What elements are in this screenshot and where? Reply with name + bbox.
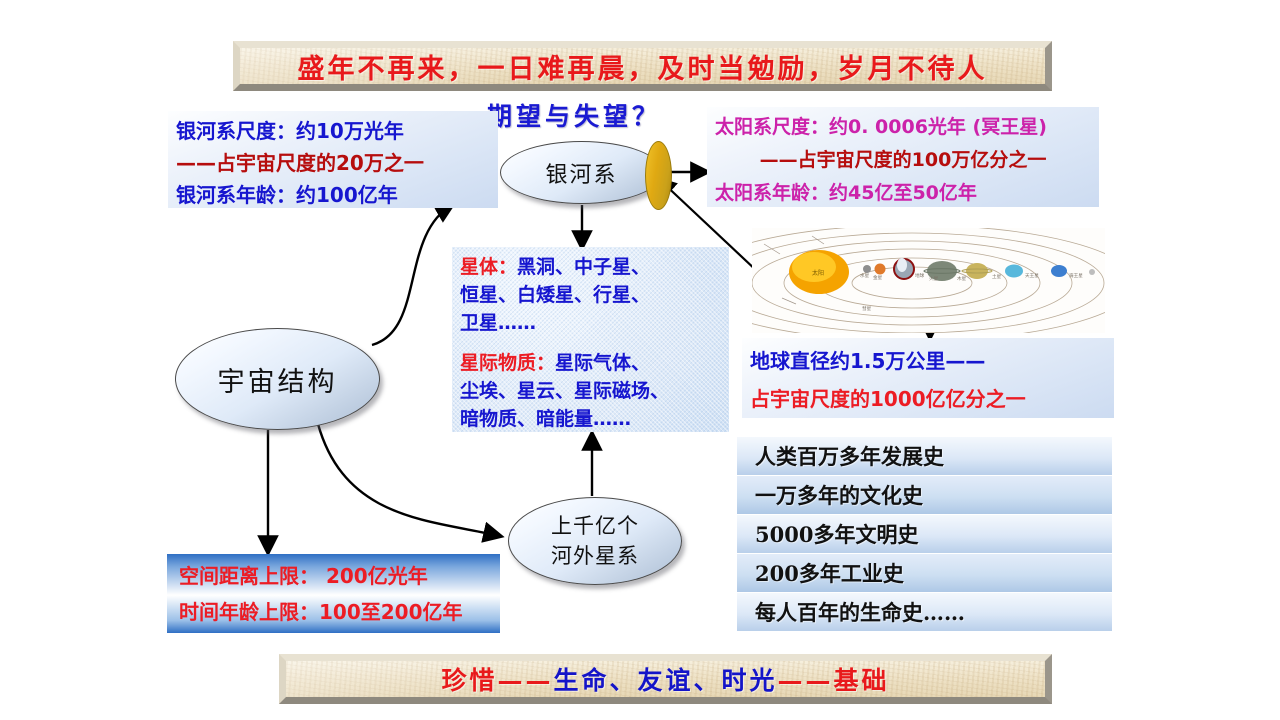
bodies-label-row: 星体：黑洞、中子星、 [460,253,721,281]
slide-canvas: 盛年不再来，一日难再晨，及时当勉励，岁月不待人 期望与失望？ 银河系尺度：约10… [0,0,1280,720]
galaxy-info-box: 银河系尺度：约10万光年 ——占宇宙尺度的20万之一 银河系年龄：约100亿年 [168,111,498,208]
limits-box: 空间距离上限： 200亿光年 时间年龄上限：100至200亿年 [167,554,500,633]
solar-age-line: 太阳系年龄：约45亿至50亿年 [715,177,1091,210]
link-universe-galaxy [372,205,452,345]
matter-line3: 暗物质、暗能量…… [460,405,721,433]
history-item-2: 5000多年文明史 [737,515,1112,553]
earth-diameter-line: 地球直径约1.5万公里—— [750,342,1106,380]
svg-text:土星: 土星 [992,273,1002,280]
solar-scale-line: 太阳系尺度：约0. 0006光年 (冥王星) [715,111,1091,144]
celestial-bodies-box: 星体：黑洞、中子星、 恒星、白矮星、行星、 卫星…… 星际物质：星际气体、 尘埃… [452,247,729,432]
space-limit-line: 空间距离上限： 200亿光年 [179,558,488,594]
bodies-line2: 恒星、白矮星、行星、 [460,281,721,309]
history-item-3: 200多年工业史 [737,554,1112,592]
svg-text:金星: 金星 [873,274,883,281]
svg-text:太阳: 太阳 [812,269,824,277]
extragalactic-lines: 上千亿个 河外星系 [551,511,639,571]
svg-text:天王星: 天王星 [1025,273,1039,279]
galaxy-age-line: 银河系年龄：约100亿年 [176,179,490,211]
extragalactic-line2: 河外星系 [551,541,639,571]
matter-label-row: 星际物质：星际气体、 [460,349,721,377]
svg-text:海王星: 海王星 [1069,272,1083,279]
top-banner-text: 盛年不再来，一日难再晨，及时当勉励，岁月不待人 [298,47,988,86]
solar-fraction-line: ——占宇宙尺度的100万亿分之一 [715,144,1091,177]
galaxy-lens-icon [645,141,672,210]
svg-text:火星: 火星 [929,276,939,282]
earth-fraction-line: 占宇宙尺度的1000亿亿分之一 [750,380,1106,418]
bottom-banner: 珍惜——生命、友谊、时光——基础 [279,654,1052,704]
top-banner: 盛年不再来，一日难再晨，及时当勉励，岁月不待人 [233,41,1052,91]
solar-system-picture: 太阳 水星 金星 地球 火星 木星 土星 天王星 海王星 彗星 [752,228,1105,333]
bodies-line3: 卫星…… [460,309,721,337]
node-universe-structure[interactable]: 宇宙结构 [175,328,380,430]
history-item-4: 每人百年的生命史…… [737,593,1112,631]
solar-system-svg: 太阳 水星 金星 地球 火星 木星 土星 天王星 海王星 彗星 [752,228,1105,333]
node-milky-way[interactable]: 银河系 [500,141,663,204]
node-extragalactic[interactable]: 上千亿个 河外星系 [508,497,682,585]
solar-info-box: 太阳系尺度：约0. 0006光年 (冥王星) ——占宇宙尺度的100万亿分之一 … [707,107,1099,207]
svg-text:水星: 水星 [860,272,870,279]
history-item-0: 人类百万多年发展史 [737,437,1112,475]
subtitle-text: 期望与失望？ [487,97,727,129]
svg-text:彗星: 彗星 [862,305,872,312]
bottom-banner-group: 珍惜——生命、友谊、时光——基础 [441,661,889,697]
bottom-banner-part1: 珍惜—— [441,666,553,695]
galaxy-scale-line: 银河系尺度：约10万光年 [176,115,490,147]
bottom-banner-part2: 生命、友谊、时光 [553,666,777,695]
history-item-1: 一万多年的文化史 [737,476,1112,514]
link-universe-extragalactic [318,424,500,536]
bodies-spacer [460,337,721,349]
matter-label: 星际物质： [460,352,555,374]
svg-text:地球: 地球 [915,272,925,279]
time-limit-line: 时间年龄上限：100至200亿年 [179,594,488,630]
matter-line2: 尘埃、星云、星际磁场、 [460,377,721,405]
bodies-line1: 黑洞、中子星、 [517,256,650,278]
matter-line1: 星际气体、 [555,352,650,374]
extragalactic-line1: 上千亿个 [551,511,639,541]
galaxy-fraction-line: ——占宇宙尺度的20万之一 [176,147,490,179]
svg-text:木星: 木星 [957,275,967,282]
bottom-banner-part3: ——基础 [778,666,890,695]
earth-diameter-box: 地球直径约1.5万公里—— 占宇宙尺度的1000亿亿分之一 [742,338,1114,418]
bodies-label: 星体： [460,256,517,278]
